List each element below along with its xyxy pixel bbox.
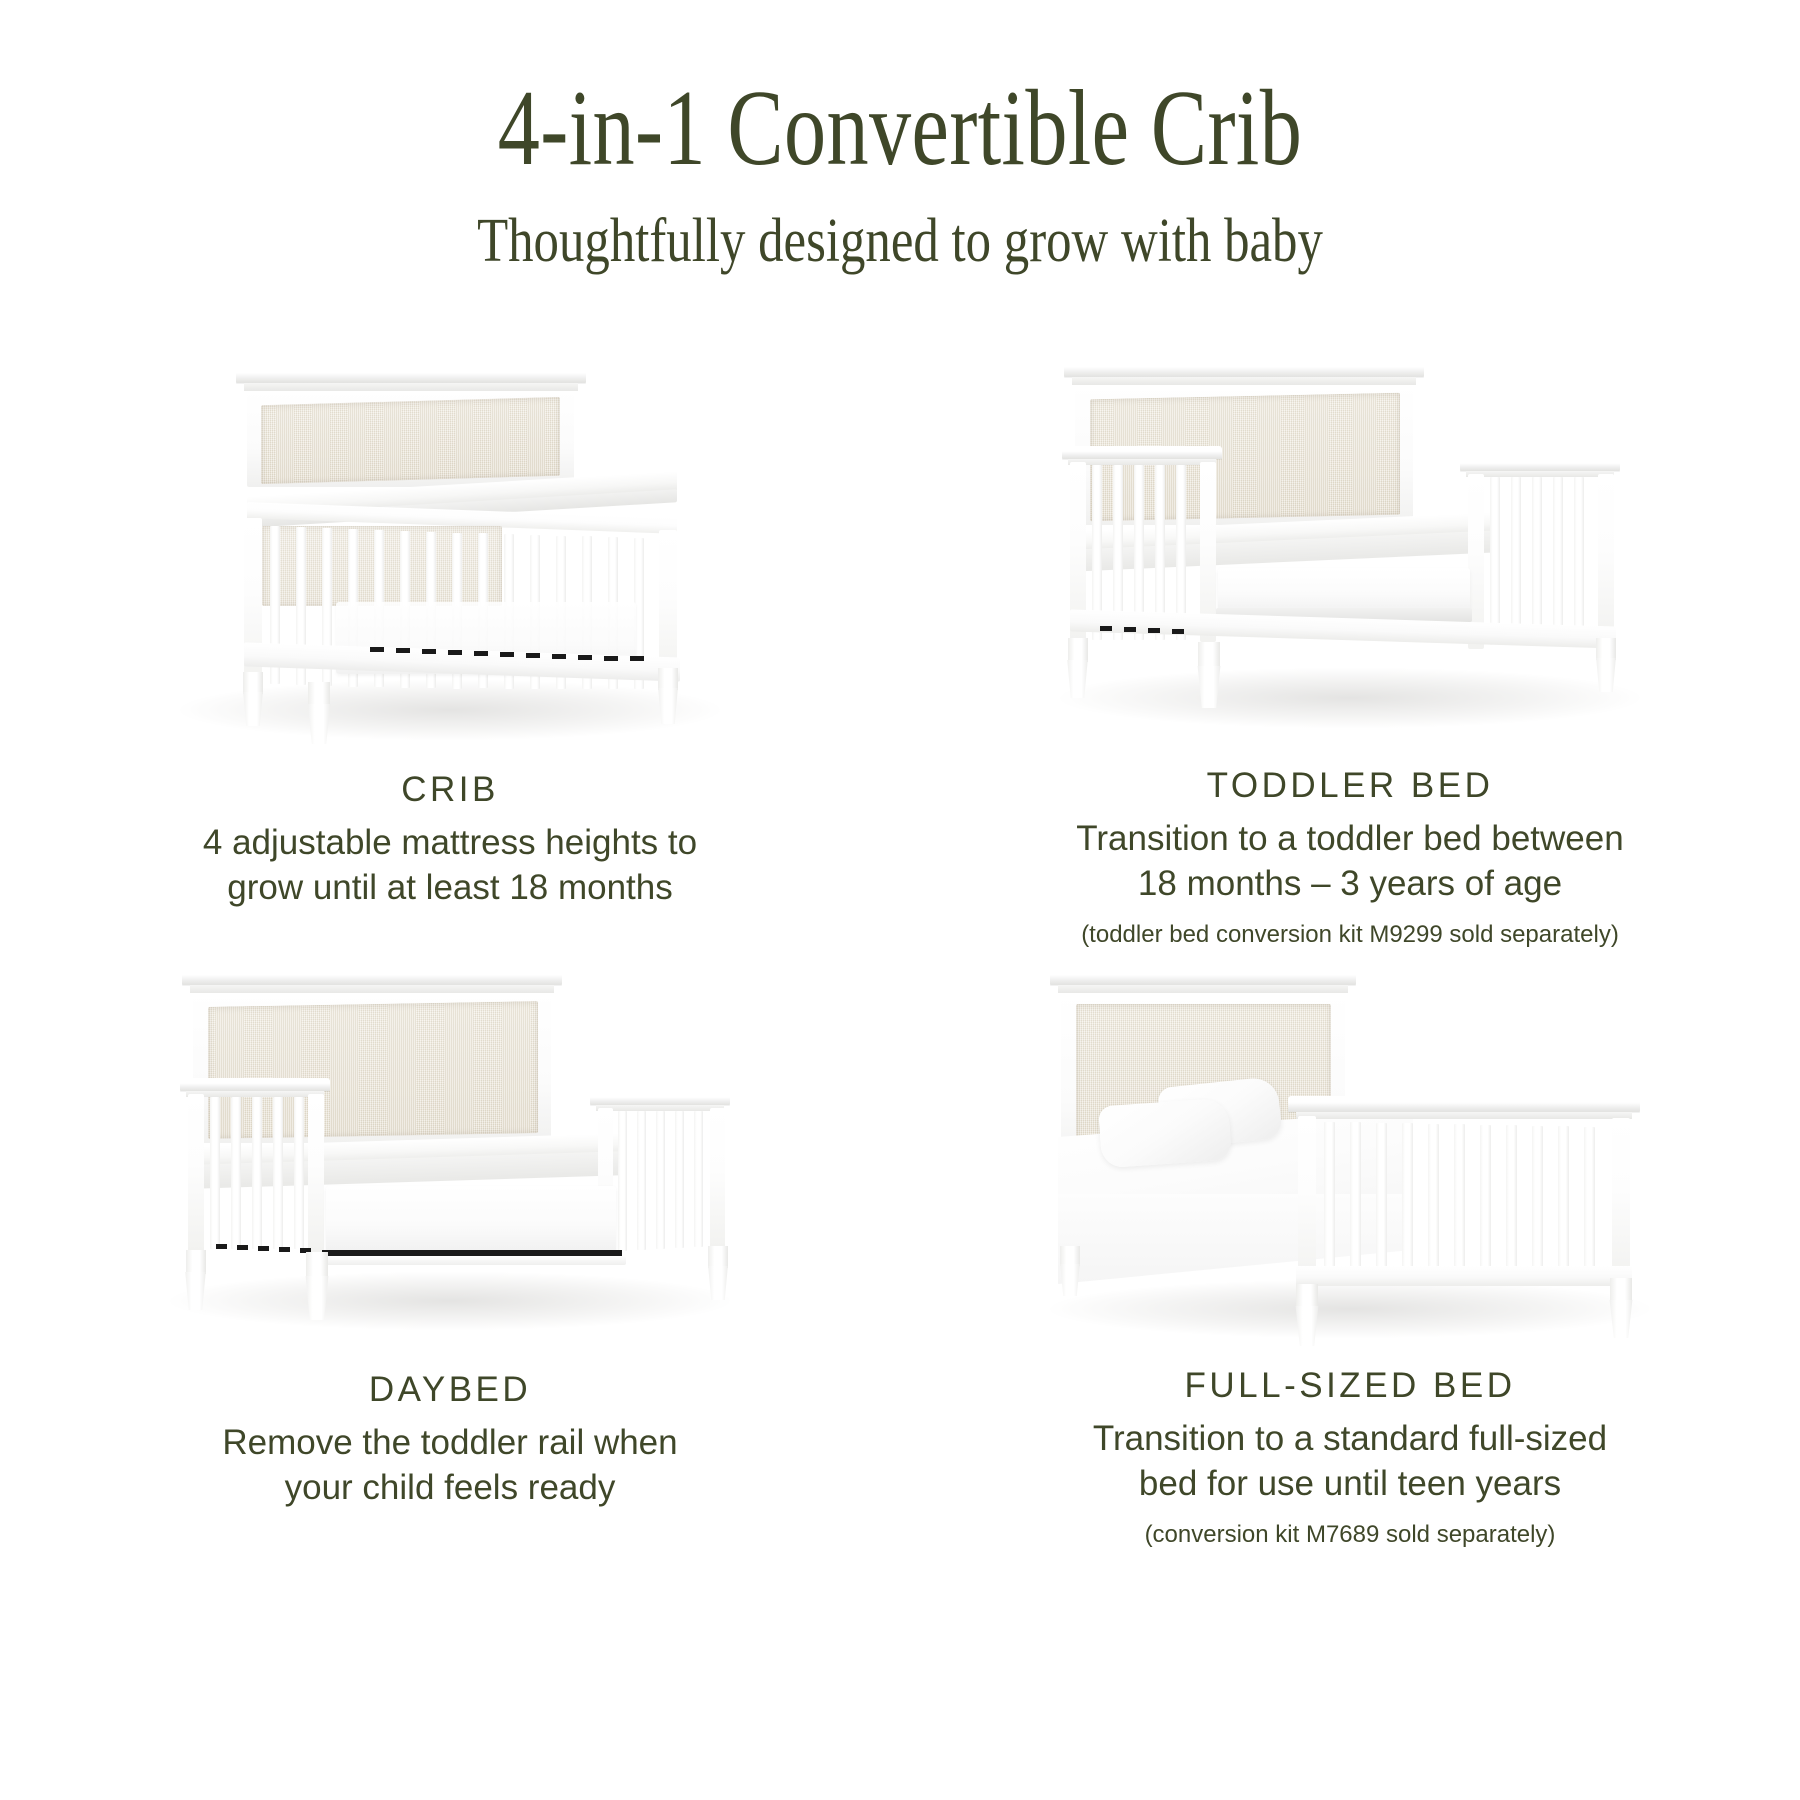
full-sized-bed-slat — [1454, 1124, 1465, 1280]
crib-base-gap — [604, 656, 618, 661]
daybed-leg-front-left — [306, 1252, 328, 1278]
full-sized-bed-headboard-crown-lip — [1058, 985, 1348, 993]
daybed-slat — [273, 1097, 283, 1249]
daybed-headboard-crown — [182, 968, 562, 985]
daybed-base-gap — [279, 1247, 290, 1252]
daybed-caption: DAYBED Remove the toddler rail when your… — [110, 1366, 790, 1511]
toddler-bed-caption: TODDLER BED Transition to a toddler bed … — [1010, 762, 1690, 950]
daybed-left-end-stile-inner — [308, 1094, 324, 1252]
full-sized-bed-slat — [1584, 1127, 1595, 1280]
toddler-bed-slat — [1553, 477, 1563, 642]
toddler-bed-leg-front-right — [1596, 638, 1616, 660]
crib-leg-foot-rear-left — [240, 692, 266, 726]
toddler-bed-leg-rear-left — [1068, 638, 1088, 662]
crib-caption-title: CRIB — [110, 766, 790, 813]
toddler-bed-product-image — [1040, 350, 1660, 756]
full-sized-bed-slat — [1480, 1125, 1491, 1280]
toddler-bed-caption-body-line: 18 months – 3 years of age — [1010, 862, 1690, 907]
full-sized-bed-pillow-front — [1098, 1098, 1232, 1169]
toddler-bed-mattress — [1218, 568, 1470, 612]
toddler-bed-right-rail-stile-outer — [1598, 474, 1614, 644]
toddler-bed-slat — [1574, 477, 1584, 641]
toddler-bed-slat — [1511, 477, 1521, 644]
toddler-bed-caption-body: Transition to a toddler bed between 18 m… — [1010, 817, 1690, 907]
crib-leg-front-right — [658, 668, 678, 690]
daybed-slat — [231, 1097, 241, 1249]
daybed-right-end-stile-outer — [710, 1108, 725, 1248]
daybed-slat — [637, 1111, 646, 1250]
daybed-leg-foot-front-right — [705, 1266, 731, 1300]
page-title: 4-in-1 Convertible Crib — [198, 72, 1602, 185]
full-sized-bed-leg-foot-footboard-left — [1292, 1306, 1322, 1346]
daybed-slat — [210, 1097, 220, 1249]
full-sized-bed-slat — [1350, 1122, 1361, 1280]
product-feature-page: 4-in-1 Convertible Crib Thoughtfully des… — [0, 0, 1800, 1800]
toddler-bed-base-gap — [1172, 629, 1184, 634]
stage-cell-toddler-bed: TODDLER BED Transition to a toddler bed … — [900, 350, 1800, 950]
crib-leg-foot-front-right — [655, 688, 681, 724]
toddler-bed-right-rail-crown — [1460, 458, 1620, 471]
stage-cell-daybed: DAYBED Remove the toddler rail when your… — [0, 950, 900, 1550]
page-subtitle: Thoughtfully designed to grow with baby — [162, 207, 1638, 275]
full-sized-bed-slat — [1402, 1123, 1413, 1280]
crib-base-gap — [526, 653, 540, 658]
daybed-slat — [694, 1111, 703, 1247]
full-sized-bed-leg-headboard — [1060, 1246, 1080, 1266]
crib-base-gap — [500, 652, 514, 657]
full-sized-bed-caption-body-line: Transition to a standard full-sized — [1010, 1417, 1690, 1462]
crib-caption: CRIB 4 adjustable mattress heights to gr… — [110, 766, 790, 911]
full-sized-bed-caption: FULL-SIZED BED Transition to a standard … — [1010, 1362, 1690, 1550]
daybed-base-gap — [216, 1244, 227, 1249]
crib-product-image — [140, 350, 760, 760]
toddler-bed-leg-front-left — [1198, 642, 1220, 668]
page-header: 4-in-1 Convertible Crib Thoughtfully des… — [0, 72, 1800, 276]
toddler-bed-slat — [1490, 477, 1500, 645]
stage-cell-full-sized-bed: FULL-SIZED BED Transition to a standard … — [900, 950, 1800, 1550]
toddler-bed-base-gap — [1100, 626, 1112, 631]
full-sized-bed-leg-footboard-left — [1296, 1284, 1318, 1308]
daybed-support-rail — [320, 1256, 626, 1265]
daybed-leg-rear-left — [186, 1250, 206, 1274]
daybed-base-gap — [258, 1246, 269, 1251]
crib-caption-body: 4 adjustable mattress heights to grow un… — [110, 821, 790, 911]
full-sized-bed-footboard-stile-right — [1612, 1118, 1630, 1280]
toddler-bed-caption-title: TODDLER BED — [1010, 762, 1690, 809]
full-sized-bed-footboard-crown — [1288, 1096, 1640, 1112]
full-sized-bed-slat — [1558, 1126, 1569, 1280]
daybed-leg-front-right — [708, 1246, 728, 1268]
toddler-bed-headboard-crown-lip — [1072, 377, 1416, 385]
full-sized-bed-footboard-stile-left — [1298, 1116, 1316, 1286]
full-sized-bed-headboard-crown — [1050, 968, 1356, 985]
full-sized-bed-slat — [1506, 1125, 1517, 1280]
full-sized-bed-caption-title: FULL-SIZED BED — [1010, 1362, 1690, 1409]
crib-base-gap — [370, 647, 384, 652]
crib-base-gap — [448, 650, 462, 655]
full-sized-bed-product-image — [1040, 950, 1660, 1356]
full-sized-bed-slat — [1324, 1122, 1335, 1280]
toddler-bed-caption-note: (toddler bed conversion kit M9299 sold s… — [1010, 919, 1690, 950]
daybed-base-gap — [237, 1245, 248, 1250]
toddler-bed-leg-foot-front-left — [1194, 666, 1224, 708]
crib-base-gap — [422, 649, 436, 654]
crib-headboard-crown-lip — [244, 383, 578, 391]
daybed-slat — [294, 1097, 304, 1249]
crib-base-gap — [630, 656, 644, 661]
daybed-caption-body: Remove the toddler rail when your child … — [110, 1421, 790, 1511]
crib-headboard-linen-panel — [261, 397, 560, 484]
crib-caption-body-line: grow until at least 18 months — [110, 866, 790, 911]
toddler-bed-base-gap — [1124, 627, 1136, 632]
daybed-leg-foot-front-left — [302, 1276, 332, 1320]
full-sized-bed-footboard-crown-lip — [1296, 1112, 1632, 1119]
full-sized-bed-slat — [1428, 1124, 1439, 1280]
full-sized-bed-leg-foot-footboard-right — [1606, 1300, 1636, 1338]
full-sized-bed-caption-body-line: bed for use until teen years — [1010, 1462, 1690, 1507]
toddler-bed-left-rail-crown — [1062, 446, 1222, 459]
crib-base-gap — [552, 654, 566, 659]
daybed-slat — [252, 1097, 262, 1249]
conversion-stages-grid: CRIB 4 adjustable mattress heights to gr… — [0, 350, 1800, 1550]
daybed-slat — [656, 1111, 665, 1249]
daybed-left-end-crown — [180, 1078, 330, 1091]
full-sized-bed-floor-shadow — [1050, 1280, 1650, 1338]
crib-headboard-crown — [236, 366, 586, 383]
daybed-product-image — [140, 950, 760, 1360]
crib-base-gap — [396, 648, 410, 653]
daybed-right-end-crown — [590, 1092, 730, 1105]
toddler-bed-leg-foot-front-right — [1593, 658, 1619, 692]
full-sized-bed-slat — [1376, 1123, 1387, 1280]
daybed-caption-body-line: your child feels ready — [110, 1466, 790, 1511]
daybed-left-end-stile-outer — [188, 1094, 204, 1252]
toddler-bed-headboard-crown — [1064, 360, 1424, 377]
crib-leg-rear-left — [243, 672, 263, 694]
daybed-caption-body-line: Remove the toddler rail when — [110, 1421, 790, 1466]
crib-base-gap — [578, 655, 592, 660]
full-sized-bed-footboard-bottom-rail — [1296, 1266, 1632, 1286]
toddler-bed-floor-shadow — [1060, 668, 1640, 728]
daybed-headboard-crown-lip — [190, 985, 554, 993]
toddler-bed-leg-foot-rear-left — [1064, 660, 1091, 698]
toddler-bed-slat — [1532, 477, 1542, 643]
daybed-mattress — [326, 1186, 616, 1252]
daybed-slat — [675, 1111, 684, 1248]
stage-cell-crib: CRIB 4 adjustable mattress heights to gr… — [0, 350, 900, 950]
crib-leg-front-left — [308, 682, 330, 706]
daybed-caption-title: DAYBED — [110, 1366, 790, 1413]
daybed-leg-foot-rear-left — [182, 1272, 209, 1310]
full-sized-bed-slat — [1532, 1126, 1543, 1280]
toddler-bed-caption-body-line: Transition to a toddler bed between — [1010, 817, 1690, 862]
toddler-bed-base-gap — [1148, 628, 1160, 633]
crib-base-gap — [474, 651, 488, 656]
crib-caption-body-line: 4 adjustable mattress heights to — [110, 821, 790, 866]
full-sized-bed-caption-note: (conversion kit M7689 sold separately) — [1010, 1519, 1690, 1550]
full-sized-bed-caption-body: Transition to a standard full-sized bed … — [1010, 1417, 1690, 1507]
daybed-slat — [618, 1111, 627, 1251]
crib-leg-foot-front-left — [304, 704, 334, 744]
full-sized-bed-leg-footboard-right — [1610, 1278, 1632, 1302]
daybed-floor-shadow — [170, 1272, 730, 1330]
